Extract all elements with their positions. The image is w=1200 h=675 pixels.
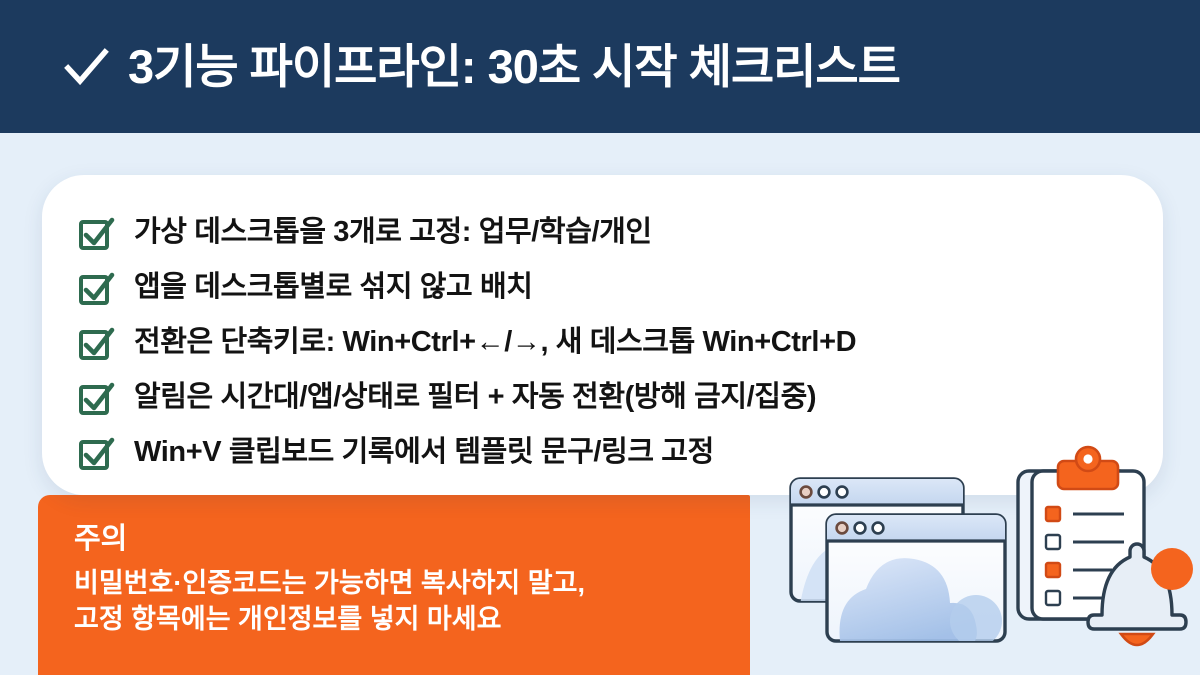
content-stage: 주의 비밀번호·인증코드는 가능하면 복사하지 말고, 고정 항목에는 개인정보… xyxy=(0,133,1200,675)
list-item[interactable]: 전환은 단축키로: Win+Ctrl+←/→, 새 데스크톱 Win+Ctrl+… xyxy=(76,315,1143,370)
checkbox-checked-icon[interactable] xyxy=(76,323,116,363)
warning-body: 비밀번호·인증코드는 가능하면 복사하지 말고, 고정 항목에는 개인정보를 넣… xyxy=(74,565,734,638)
list-item-label: 전환은 단축키로: Win+Ctrl+←/→, 새 데스크톱 Win+Ctrl+… xyxy=(134,328,856,357)
checklist: 가상 데스크톱을 3개로 고정: 업무/학습/개인 앱을 데스크톱별로 섞지 않… xyxy=(76,205,1143,480)
checkbox-checked-icon[interactable] xyxy=(76,433,116,473)
list-item[interactable]: 앱을 데스크톱별로 섞지 않고 배치 xyxy=(76,260,1143,315)
list-item[interactable]: 가상 데스크톱을 3개로 고정: 업무/학습/개인 xyxy=(76,205,1143,260)
page-title: 3기능 파이프라인: 30초 시작 체크리스트 xyxy=(128,43,900,90)
list-item-label: 가상 데스크톱을 3개로 고정: 업무/학습/개인 xyxy=(134,218,652,247)
clipboard-clip xyxy=(1058,447,1118,489)
browser-window-front xyxy=(827,515,1005,649)
list-item-label: 알림은 시간대/앱/상태로 필터 + 자동 전환(방해 금지/집중) xyxy=(134,383,816,412)
windows-clipboard-bell-illustration xyxy=(780,445,1200,675)
list-item-label: 앱을 데스크톱별로 섞지 않고 배치 xyxy=(134,273,533,302)
list-item-label: Win+V 클립보드 기록에서 템플릿 문구/링크 고정 xyxy=(134,438,714,467)
bell-badge xyxy=(1151,548,1193,590)
list-item[interactable]: 알림은 시간대/앱/상태로 필터 + 자동 전환(방해 금지/집중) xyxy=(76,370,1143,425)
checkbox-checked-icon[interactable] xyxy=(76,213,116,253)
checkbox-checked-icon[interactable] xyxy=(76,378,116,418)
warning-title: 주의 xyxy=(74,525,127,554)
page-header: 3기능 파이프라인: 30초 시작 체크리스트 xyxy=(0,0,1200,133)
checkbox-checked-icon[interactable] xyxy=(76,268,116,308)
warning-panel: 주의 비밀번호·인증코드는 가능하면 복사하지 말고, 고정 항목에는 개인정보… xyxy=(38,495,750,675)
check-icon xyxy=(62,43,110,91)
